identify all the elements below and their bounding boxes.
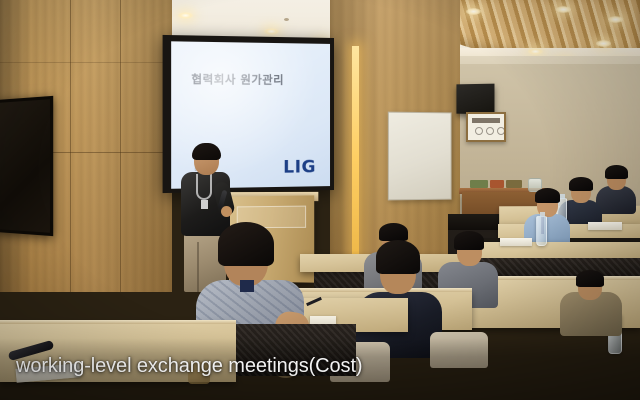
ceiling-speaker (456, 84, 494, 115)
meeting-photograph: 협력회사 원가관리 LIG Nex1 LIG (0, 0, 640, 400)
wall-monitor-left[interactable] (0, 96, 53, 236)
chair-back (430, 332, 488, 368)
framed-sign (466, 112, 506, 142)
downlight (466, 8, 481, 15)
presenter-badge (201, 200, 208, 209)
whiteboard[interactable] (388, 112, 452, 201)
sprinkler-head (284, 18, 289, 21)
presenter-lanyard (196, 174, 212, 200)
downlight (178, 12, 193, 19)
refreshment-item (470, 180, 488, 188)
refreshment-item (506, 180, 522, 188)
attendee-dark-suit-back (596, 166, 636, 210)
refreshment-item (490, 180, 504, 188)
downlight (596, 40, 611, 47)
paper-sheet (500, 238, 532, 246)
attendee-blue-shirt (524, 190, 570, 244)
downlight (608, 16, 623, 23)
presenter-hand (221, 206, 232, 217)
water-bottle (536, 216, 547, 246)
downlight (556, 6, 571, 13)
attendee-lanyard (240, 280, 254, 292)
downlight (528, 48, 543, 55)
paper-sheet (588, 222, 622, 230)
caption-text: working-level exchange meetings(Cost) (16, 355, 362, 378)
downlight (264, 28, 279, 35)
desk-foreground-edge (0, 320, 236, 324)
presenter-hair (192, 143, 221, 160)
lig-logo: LIG (283, 157, 316, 178)
slide-title-text: 협력회사 원가관리 (191, 71, 284, 88)
attendee-khaki-right (560, 276, 622, 332)
